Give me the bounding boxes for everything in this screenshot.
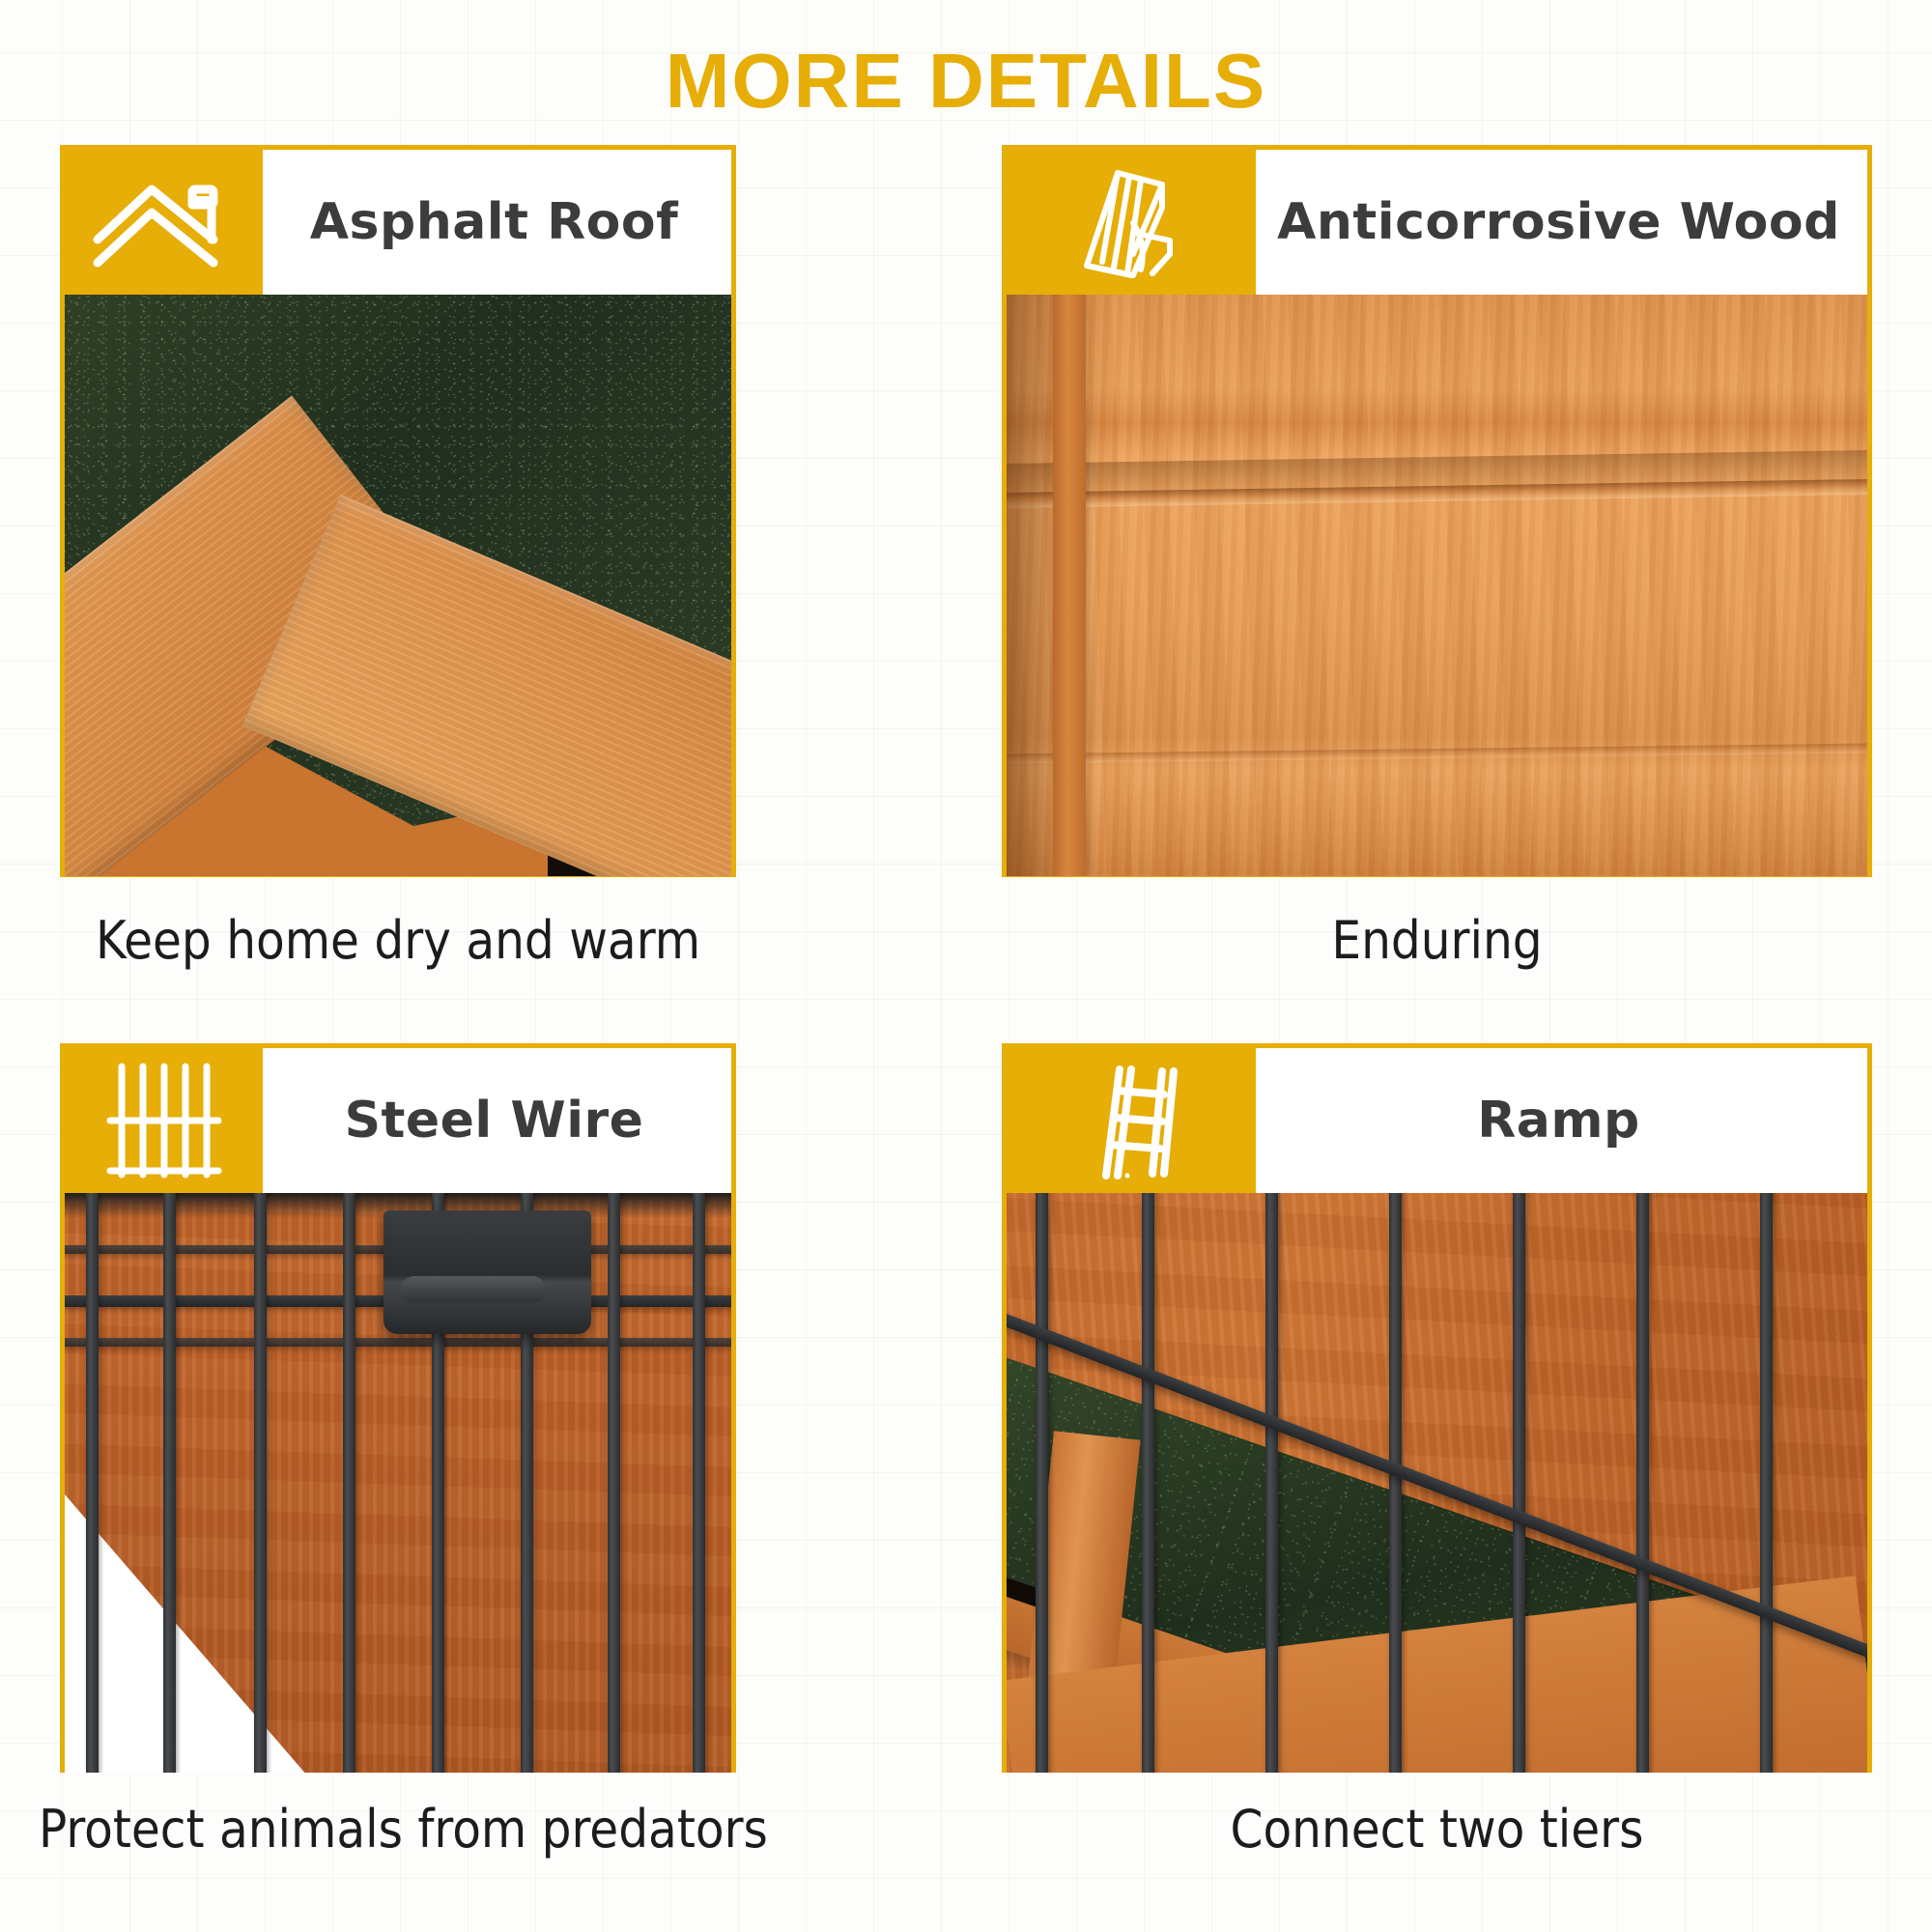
card-title: Anticorrosive Wood <box>1256 150 1867 295</box>
wire-bar <box>1265 1193 1278 1773</box>
card-title: Asphalt Roof <box>263 150 731 295</box>
card-header: Ramp <box>1007 1048 1867 1193</box>
corner-post <box>1053 295 1086 876</box>
detail-card-steel-wire: Steel Wire <box>60 1043 736 1773</box>
detail-card-ramp: Ramp <box>1002 1043 1872 1773</box>
card-photo-asphalt-roof <box>65 295 731 876</box>
card-title: Steel Wire <box>263 1048 731 1193</box>
wire-bar <box>163 1193 176 1773</box>
card-header: Steel Wire <box>65 1048 731 1193</box>
wire-bar <box>1389 1193 1402 1773</box>
card-caption: Protect animals from predators <box>39 1799 758 1860</box>
card-header: Asphalt Roof <box>65 150 731 295</box>
page-title: MORE DETAILS <box>0 37 1932 126</box>
detail-card-anticorrosive-wood: Anticorrosive Wood <box>1002 145 1872 877</box>
roof-icon <box>65 150 263 295</box>
wire-bar <box>1760 1193 1773 1773</box>
card-header: Anticorrosive Wood <box>1007 150 1867 295</box>
wire-bar <box>343 1193 355 1773</box>
card-caption: Enduring <box>1002 910 1872 971</box>
wire-bar <box>693 1193 705 1773</box>
wire-grid-icon <box>65 1048 263 1193</box>
card-caption: Keep home dry and warm <box>60 910 736 971</box>
wire-bar <box>1636 1193 1649 1773</box>
card-photo-steel-wire <box>65 1193 731 1773</box>
wire-bar <box>608 1193 620 1773</box>
wire-bar <box>254 1193 267 1773</box>
detail-card-asphalt-roof: Asphalt Roof <box>60 145 736 877</box>
ladder-icon <box>1007 1048 1256 1193</box>
card-title: Ramp <box>1256 1048 1867 1193</box>
infographic-page: MORE DETAILS Asphalt Roof <box>0 0 1932 1932</box>
card-caption: Connect two tiers <box>1002 1799 1872 1860</box>
wood-grain <box>1007 295 1867 876</box>
wire-bar <box>1513 1193 1525 1773</box>
wire-bar <box>86 1193 99 1773</box>
card-photo-ramp <box>1007 1193 1867 1773</box>
card-photo-anticorrosive-wood <box>1007 295 1867 876</box>
wire-bar <box>1142 1193 1154 1773</box>
wood-planks-icon <box>1007 150 1256 295</box>
latch-clip <box>384 1210 591 1334</box>
wire-bar <box>1036 1193 1048 1773</box>
